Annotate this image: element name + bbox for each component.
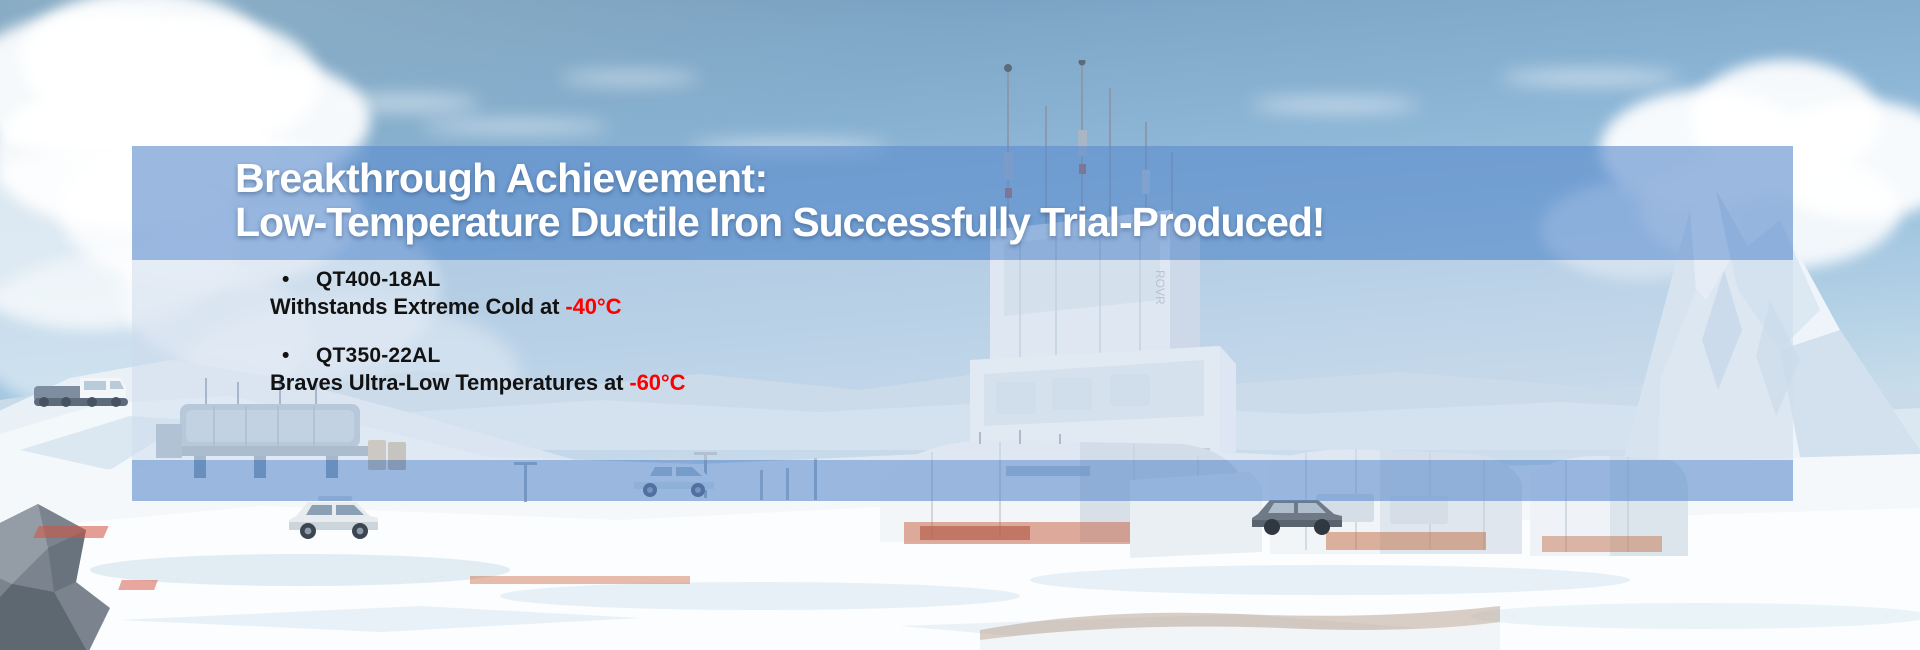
temperature-value: -40°C — [565, 294, 621, 319]
list-item: •QT400-18AL Withstands Extreme Cold at -… — [282, 268, 1682, 320]
snow-suv-left — [284, 494, 384, 542]
claim-text: Withstands Extreme Cold at — [270, 294, 565, 319]
temperature-value: -60°C — [629, 370, 685, 395]
feature-list: •QT400-18AL Withstands Extreme Cold at -… — [282, 268, 1682, 420]
claim-text: Braves Ultra-Low Temperatures at — [270, 370, 629, 395]
bullet-grade-row: •QT350-22AL — [282, 344, 1682, 368]
text-overlay-panel: Breakthrough Achievement: Low-Temperatur… — [132, 146, 1793, 501]
headline-line-1: Breakthrough Achievement: — [235, 155, 768, 201]
foreground-snowbank — [980, 600, 1500, 650]
material-grade: QT350-22AL — [316, 344, 441, 367]
panel-band-bottom — [132, 460, 1793, 501]
bullet-marker-icon: • — [282, 268, 316, 292]
bullet-marker-icon: • — [282, 344, 316, 368]
bullet-grade-row: •QT400-18AL — [282, 268, 1682, 292]
bullet-claim-row: Withstands Extreme Cold at -40°C — [270, 294, 1682, 320]
list-item: •QT350-22AL Braves Ultra-Low Temperature… — [282, 344, 1682, 396]
foreground-rock-left — [0, 488, 170, 650]
page-title: Breakthrough Achievement: Low-Temperatur… — [235, 156, 1795, 245]
banner-image: ROVR — [0, 0, 1920, 650]
headline-line-2: Low-Temperature Ductile Iron Successfull… — [235, 200, 1795, 244]
tracked-snow-vehicle — [34, 372, 130, 410]
material-grade: QT400-18AL — [316, 268, 441, 291]
bullet-claim-row: Braves Ultra-Low Temperatures at -60°C — [270, 370, 1682, 396]
